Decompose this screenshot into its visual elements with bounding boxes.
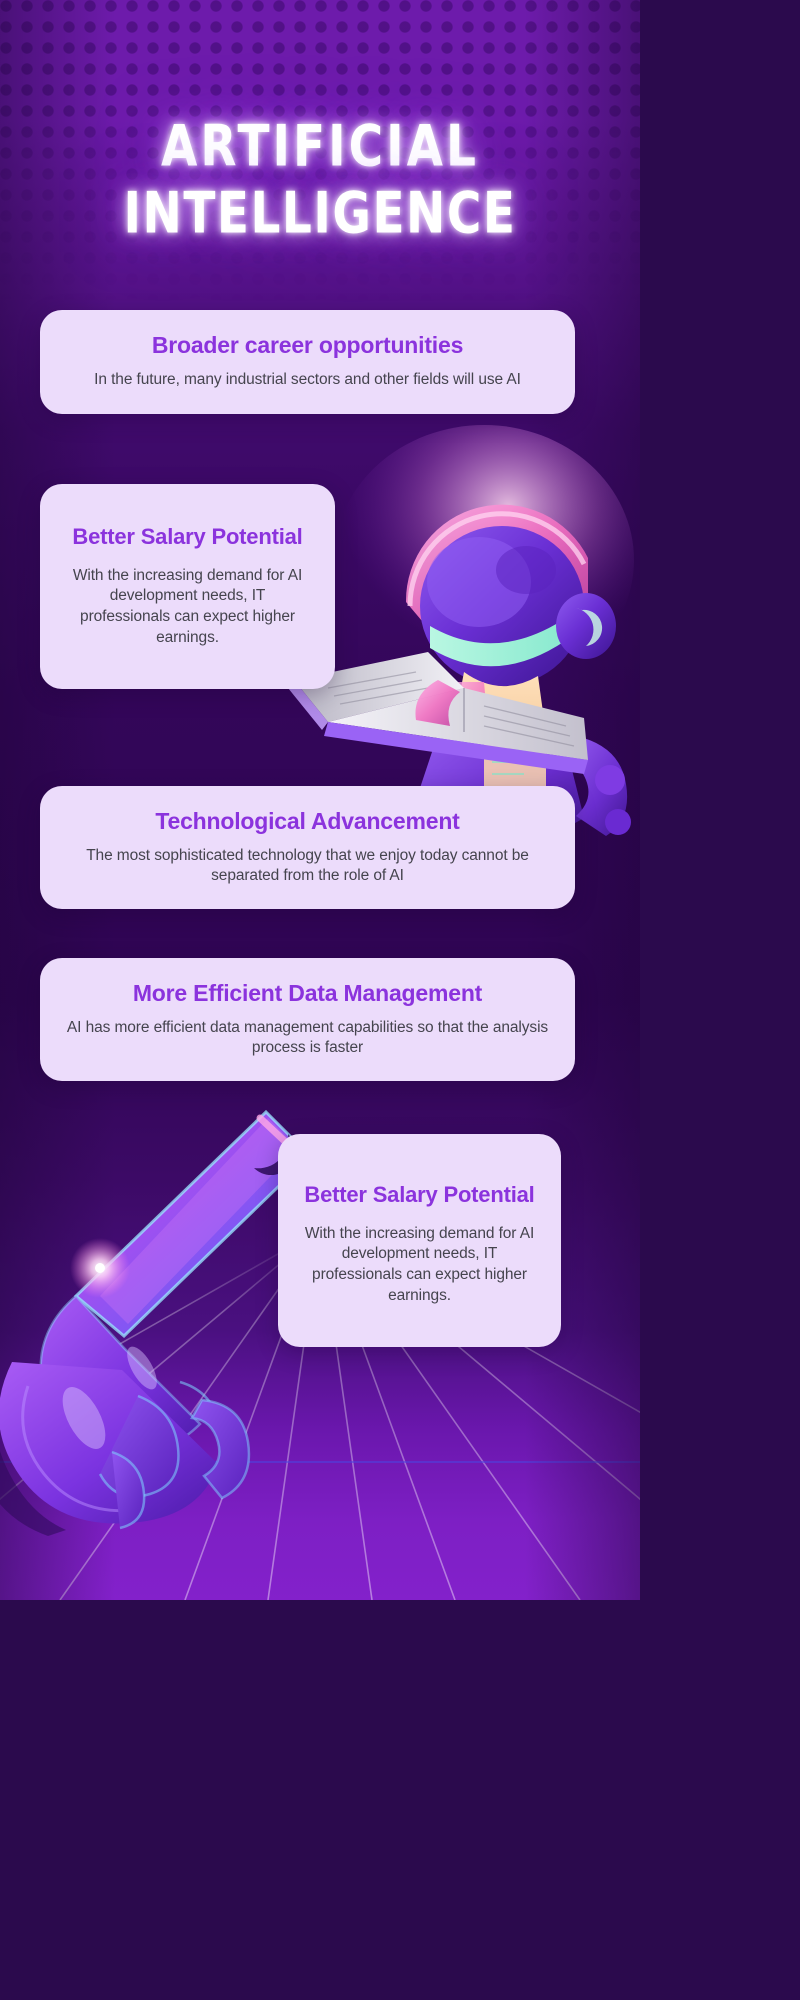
card-body: With the increasing demand for AI develo… — [66, 566, 309, 650]
card-better-salary-potential-bottom[interactable]: Better Salary Potential With the increas… — [278, 1134, 561, 1347]
card-technological-advancement[interactable]: Technological Advancement The most sophi… — [40, 786, 575, 909]
card-more-efficient-data-management[interactable]: More Efficient Data Management AI has mo… — [40, 958, 575, 1081]
card-heading: Broader career opportunities — [66, 332, 549, 359]
card-better-salary-potential-top[interactable]: Better Salary Potential With the increas… — [40, 484, 335, 689]
poster-title: ARTIFICIAL INTELLIGENCE — [0, 118, 640, 233]
card-heading: More Efficient Data Management — [66, 980, 549, 1007]
card-heading: Better Salary Potential — [304, 1182, 535, 1208]
title-line-1: ARTIFICIAL — [0, 118, 640, 177]
card-broader-career-opportunities[interactable]: Broader career opportunities In the futu… — [40, 310, 575, 414]
infographic-poster: ARTIFICIAL INTELLIGENCE — [0, 0, 640, 1600]
card-body: The most sophisticated technology that w… — [66, 846, 549, 886]
title-line-2: INTELLIGENCE — [0, 185, 640, 244]
card-heading: Technological Advancement — [66, 808, 549, 835]
card-body: With the increasing demand for AI develo… — [304, 1224, 535, 1308]
card-body: AI has more efficient data management ca… — [66, 1018, 549, 1058]
card-heading: Better Salary Potential — [66, 524, 309, 550]
card-body: In the future, many industrial sectors a… — [66, 370, 549, 390]
